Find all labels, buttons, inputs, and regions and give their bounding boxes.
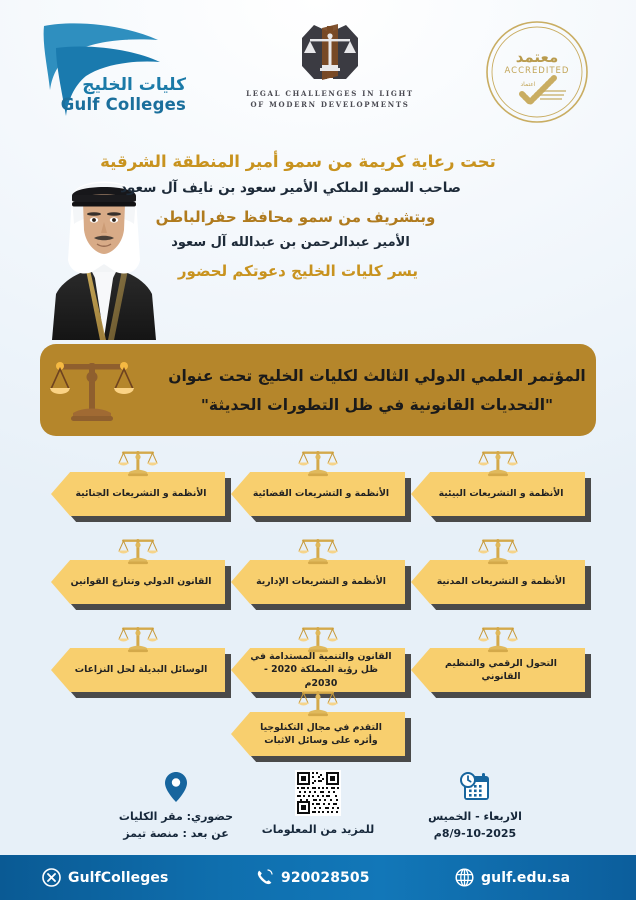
accreditation-seal-icon: معتمد ACCREDITED اعتماد xyxy=(480,16,595,128)
scales-of-justice-icon xyxy=(298,534,338,566)
topic-box-label: التقدم في مجال التكنلوجياوأثره على وسائل… xyxy=(244,721,392,748)
topic-box-face: الأنظمة و التشريعات الإدارية xyxy=(231,560,405,604)
topic-box-face: التقدم في مجال التكنلوجياوأثره على وسائل… xyxy=(231,712,405,756)
phone-number-label: 920028505 xyxy=(281,870,370,886)
legal-emblem-caption-1: LEGAL CHALLENGES IN LIGHT xyxy=(246,89,414,98)
topic-row-1: الأنظمة و التشريعات البيئية الأنظمة و ال… xyxy=(0,446,636,516)
conference-title-banner: المؤتمر العلمي الدولي الثالث لكليات الخل… xyxy=(40,344,596,436)
gulf-logo-english: Gulf Colleges xyxy=(61,95,186,114)
topic-box-face: الأنظمة و التشريعات القضائية xyxy=(231,472,405,516)
svg-text:ACCREDITED: ACCREDITED xyxy=(505,66,570,76)
topic-box-face: الأنظمة و التشريعات الجنائية xyxy=(51,472,225,516)
topic-box-label: القانون والتنمية المستدامة فيظل رؤية الم… xyxy=(231,650,405,690)
x-twitter-icon xyxy=(42,868,61,887)
website-link[interactable]: gulf.edu.sa xyxy=(455,855,570,900)
scales-of-justice-icon xyxy=(40,353,144,427)
phone-number[interactable]: 920028505 xyxy=(255,855,370,900)
patronage-line-1: تحت رعاية كريمة من سمو أمير المنطقة الشر… xyxy=(0,152,636,171)
scales-of-justice-icon xyxy=(298,446,338,478)
accreditation-seal: معتمد ACCREDITED اعتماد xyxy=(480,16,595,128)
scales-of-justice-icon xyxy=(118,622,158,654)
scales-icon-graphic xyxy=(49,353,135,427)
topic-box: الأنظمة و التشريعات الجنائية xyxy=(51,446,225,516)
scales-of-justice-icon xyxy=(118,446,158,478)
topic-row-4: التقدم في مجال التكنلوجياوأثره على وسائل… xyxy=(0,686,636,756)
topic-box-label: القانون الدولي وتنازع القوانين xyxy=(55,575,222,588)
venue-line-1: حضوري: مقر الكليات xyxy=(106,809,246,826)
social-handle-label: GulfColleges xyxy=(68,870,168,886)
date-line-2: 8/9-10-2025م xyxy=(400,826,550,843)
patronage-line-3: وبتشريف من سمو محافظ حفرالباطن xyxy=(0,208,636,226)
topic-box-label: الأنظمة و التشريعات الجنائية xyxy=(60,487,217,500)
website-link-label: gulf.edu.sa xyxy=(481,870,570,886)
topic-row-3: التحول الرقمي والتنظيم القانوني القانون … xyxy=(0,622,636,692)
topic-box: التقدم في مجال التكنلوجياوأثره على وسائل… xyxy=(231,686,405,756)
poster-header: كليات الخليج Gulf Colleges LEGAL CHALLEN… xyxy=(0,0,636,140)
topic-box-face: الأنظمة و التشريعات البيئية xyxy=(411,472,585,516)
globe-icon xyxy=(455,868,474,887)
topic-box-label: الأنظمة و التشريعات المدنية xyxy=(421,575,576,588)
svg-text:اعتماد: اعتماد xyxy=(520,81,535,88)
gulf-colleges-logo: كليات الخليج Gulf Colleges xyxy=(30,18,190,123)
qr-caption: للمزيد من المعلومات xyxy=(238,822,398,839)
patronage-line-4: الأمير عبدالرحمن بن عبدالله آل سعود xyxy=(0,235,636,250)
poster-footer: GulfColleges 920028505 gulf.edu.sa xyxy=(0,855,636,900)
scales-of-justice-icon xyxy=(478,534,518,566)
scales-of-justice-icon xyxy=(118,534,158,566)
phone-icon xyxy=(255,868,274,887)
topic-box-label: الأنظمة و التشريعات الإدارية xyxy=(240,575,396,588)
topic-box-label: الأنظمة و التشريعات البيئية xyxy=(423,487,574,500)
venue-info: حضوري: مقر الكليات عن بعد : منصة تيمز xyxy=(106,770,246,842)
date-line-1: الاربعاء - الخميس xyxy=(400,809,550,826)
event-info-row: حضوري: مقر الكليات عن بعد : منصة تيمز xyxy=(0,770,636,855)
scales-of-justice-icon xyxy=(478,446,518,478)
qr-info[interactable]: للمزيد من المعلومات xyxy=(238,770,398,839)
conference-poster: كليات الخليج Gulf Colleges LEGAL CHALLEN… xyxy=(0,0,636,900)
scales-of-justice-icon xyxy=(298,686,338,718)
banner-title-line-1: المؤتمر العلمي الدولي الثالث لكليات الخل… xyxy=(158,367,596,385)
scales-of-justice-icon xyxy=(298,622,338,654)
topic-box: الأنظمة و التشريعات القضائية xyxy=(231,446,405,516)
topic-box-face: الأنظمة و التشريعات المدنية xyxy=(411,560,585,604)
svg-text:معتمد: معتمد xyxy=(516,48,559,66)
topic-box: القانون الدولي وتنازع القوانين xyxy=(51,534,225,604)
topic-box-face: القانون الدولي وتنازع القوانين xyxy=(51,560,225,604)
social-handle[interactable]: GulfColleges xyxy=(42,855,168,900)
topic-box: الأنظمة و التشريعات البيئية xyxy=(411,446,585,516)
topic-box: الأنظمة و التشريعات المدنية xyxy=(411,534,585,604)
patronage-line-2: صاحب السمو الملكي الأمير سعود بن نايف آل… xyxy=(0,180,636,196)
patronage-text-block: تحت رعاية كريمة من سمو أمير المنطقة الشر… xyxy=(0,152,636,280)
topic-box: الأنظمة و التشريعات الإدارية xyxy=(231,534,405,604)
date-info: الاربعاء - الخميس 8/9-10-2025م xyxy=(400,770,550,842)
topic-box-label: التحول الرقمي والتنظيم القانوني xyxy=(411,657,585,684)
legal-emblem-icon xyxy=(294,22,366,84)
conference-topics: الأنظمة و التشريعات البيئية الأنظمة و ال… xyxy=(0,446,636,766)
legal-challenges-emblem: LEGAL CHALLENGES IN LIGHT OF MODERN DEVE… xyxy=(255,22,405,127)
topic-box-label: الوسائل البديلة لحل النزاعات xyxy=(59,663,218,676)
legal-emblem-caption-2: OF MODERN DEVELOPMENTS xyxy=(250,100,409,109)
topic-box-label: الأنظمة و التشريعات القضائية xyxy=(237,487,399,500)
topic-box: القانون والتنمية المستدامة فيظل رؤية الم… xyxy=(231,622,405,692)
location-pin-icon xyxy=(106,770,246,804)
scales-of-justice-icon xyxy=(478,622,518,654)
gulf-logo-arabic: كليات الخليج xyxy=(82,75,186,95)
banner-title-line-2: "التحديات القانونية في ظل التطورات الحدي… xyxy=(158,396,596,414)
venue-line-2: عن بعد : منصة تيمز xyxy=(106,826,246,843)
calendar-clock-icon xyxy=(400,770,550,804)
qr-code[interactable] xyxy=(295,770,341,816)
topic-box: الوسائل البديلة لحل النزاعات xyxy=(51,622,225,692)
topic-box: التحول الرقمي والتنظيم القانوني xyxy=(411,622,585,692)
patronage-line-5: يسر كليات الخليج دعوتكم لحضور xyxy=(0,262,636,280)
topic-row-2: الأنظمة و التشريعات المدنية الأنظمة و ال… xyxy=(0,534,636,604)
